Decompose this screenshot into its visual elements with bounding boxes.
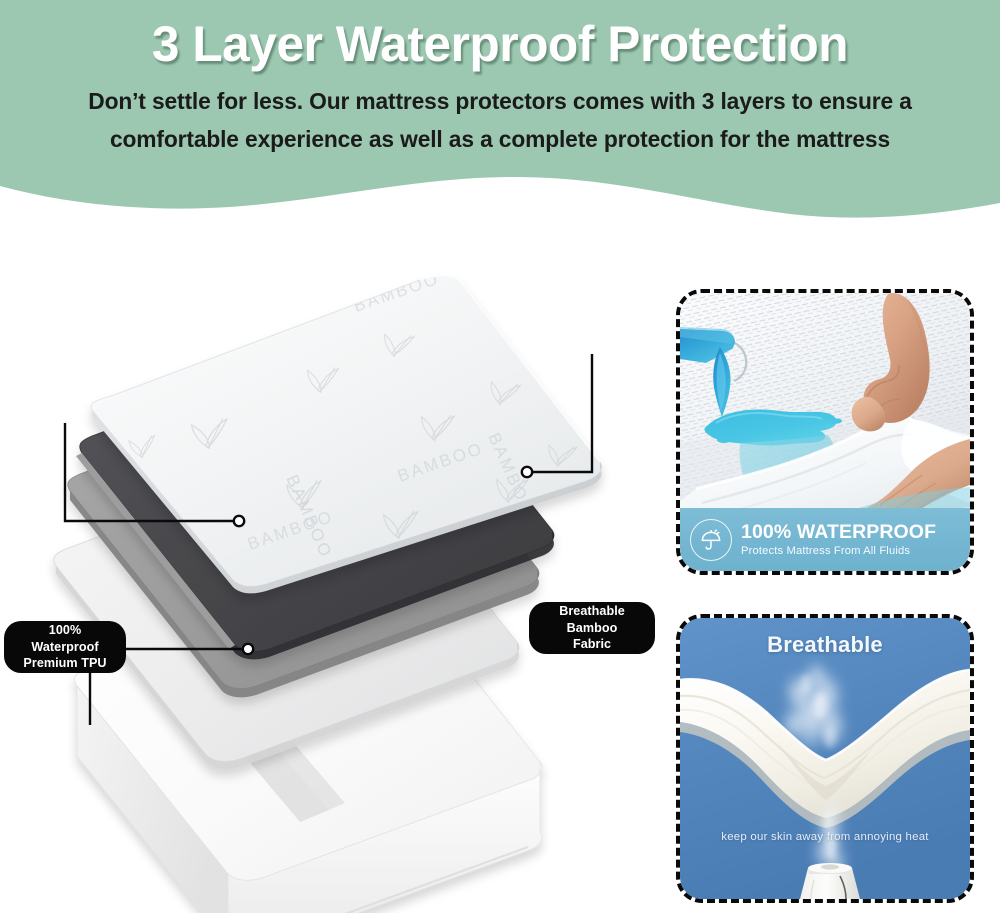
waterproof-headline: 100% WATERPROOF bbox=[741, 521, 970, 544]
waterproof-subline: Protects Mattress From All Fluids bbox=[741, 544, 970, 559]
breathable-caption: keep our skin away from annoying heat bbox=[680, 831, 970, 843]
waterproof-demo-panel: 100% WATERPROOF Protects Mattress From A… bbox=[676, 289, 974, 575]
endpoint-dot-zipper bbox=[243, 644, 253, 654]
callout-tpu-line2: Premium TPU bbox=[14, 655, 116, 672]
callout-tpu-line1: 100% Waterproof bbox=[14, 622, 116, 655]
layers-illustration: BAMBOO BAMBOO BAMBOO BAMBOO BAMBOO BAMBO… bbox=[0, 250, 672, 913]
infographic-page: 3 Layer Waterproof Protection Don’t sett… bbox=[0, 0, 1000, 913]
waterproof-banner: 100% WATERPROOF Protects Mattress From A… bbox=[680, 508, 970, 571]
endpoint-dot-bamboo bbox=[522, 467, 532, 477]
callout-breathable-bamboo: Breathable Bamboo Fabric bbox=[529, 602, 655, 654]
umbrella-icon bbox=[690, 519, 732, 561]
callout-bamboo-line1: Breathable Bamboo bbox=[539, 603, 645, 636]
callout-bamboo-line2: Fabric bbox=[539, 636, 645, 653]
header-banner: 3 Layer Waterproof Protection Don’t sett… bbox=[0, 0, 1000, 230]
breathable-title: Breathable bbox=[680, 632, 970, 658]
page-subtitle: Don’t settle for less. Our mattress prot… bbox=[83, 82, 917, 158]
header-text-block: 3 Layer Waterproof Protection Don’t sett… bbox=[0, 0, 1000, 215]
exploded-layers-diagram: BAMBOO BAMBOO BAMBOO BAMBOO BAMBOO BAMBO… bbox=[0, 250, 672, 913]
breathable-scene-photo bbox=[680, 618, 970, 899]
breathable-panel-inner: Breathable keep our skin away from annoy… bbox=[680, 618, 970, 899]
humidifier bbox=[800, 863, 860, 899]
callout-waterproof-tpu: 100% Waterproof Premium TPU bbox=[4, 621, 126, 673]
page-title: 3 Layer Waterproof Protection bbox=[5, 14, 995, 74]
endpoint-dot-tpu bbox=[234, 516, 244, 526]
waterproof-panel-inner: 100% WATERPROOF Protects Mattress From A… bbox=[680, 293, 970, 571]
breathable-demo-panel: Breathable keep our skin away from annoy… bbox=[676, 614, 974, 903]
